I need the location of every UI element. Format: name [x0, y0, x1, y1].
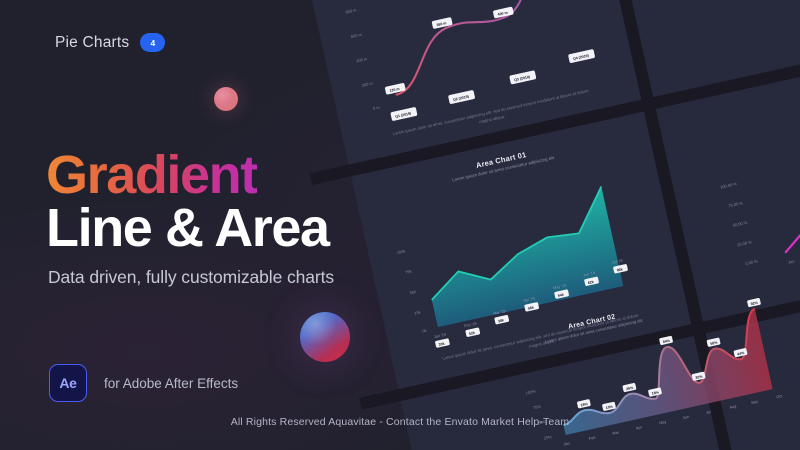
svg-text:100.00 %: 100.00 % [720, 181, 738, 190]
svg-text:0k: 0k [422, 328, 427, 334]
eyebrow-label: Pie Charts [55, 34, 129, 52]
svg-text:25.00 %: 25.00 % [737, 239, 753, 247]
svg-text:100k: 100k [396, 248, 406, 255]
svg-text:26%: 26% [626, 386, 635, 392]
svg-text:75.00 %: 75.00 % [728, 200, 744, 208]
eyebrow[interactable]: Pie Charts 4 [55, 33, 165, 52]
title-white-line: Line & Area [46, 201, 329, 256]
svg-text:Aug: Aug [729, 404, 736, 409]
page-title: Gradient Line & Area [46, 148, 329, 256]
footer-credit: All Rights Reserved Aquavitae - Contact … [0, 416, 800, 428]
decorative-gradient-sphere [300, 312, 350, 362]
slide-canvas: Line Chart 01 Lorem ipsum dolor sit amet… [0, 0, 800, 450]
svg-text:Jan: Jan [563, 441, 570, 446]
svg-text:Mar: Mar [612, 430, 620, 435]
svg-text:58%: 58% [710, 340, 719, 346]
tagline: Data driven, fully customizable charts [48, 267, 334, 288]
svg-text:Sep: Sep [751, 400, 758, 405]
decorative-pink-dot [214, 87, 238, 111]
after-effects-icon: Ae [49, 364, 87, 402]
svg-text:0.00 %: 0.00 % [745, 258, 759, 266]
title-gradient-word: Gradient [46, 148, 257, 203]
after-effects-label: for Adobe After Effects [104, 376, 238, 391]
svg-text:92%: 92% [750, 301, 759, 307]
hero-block: Pie Charts 4 Gradient Line & Area Data d… [0, 0, 380, 450]
svg-text:100%: 100% [525, 388, 537, 395]
svg-text:Feb: Feb [589, 436, 596, 441]
svg-text:64%: 64% [662, 339, 671, 345]
svg-text:Jan: Jan [788, 258, 795, 264]
svg-text:25k: 25k [414, 310, 421, 316]
after-effects-row: Ae for Adobe After Effects [49, 364, 238, 402]
svg-text:Jul: Jul [706, 410, 712, 415]
svg-text:10%: 10% [605, 404, 614, 410]
svg-text:50k: 50k [409, 289, 416, 295]
svg-text:25%: 25% [543, 434, 552, 441]
eyebrow-count-badge: 4 [140, 33, 165, 52]
svg-text:18%: 18% [580, 402, 589, 408]
svg-text:Feb '19: Feb '19 [464, 322, 477, 329]
svg-text:75k: 75k [405, 269, 412, 275]
svg-text:50.00 %: 50.00 % [732, 220, 748, 228]
svg-text:Oct: Oct [776, 394, 784, 399]
svg-text:75%: 75% [532, 404, 541, 411]
